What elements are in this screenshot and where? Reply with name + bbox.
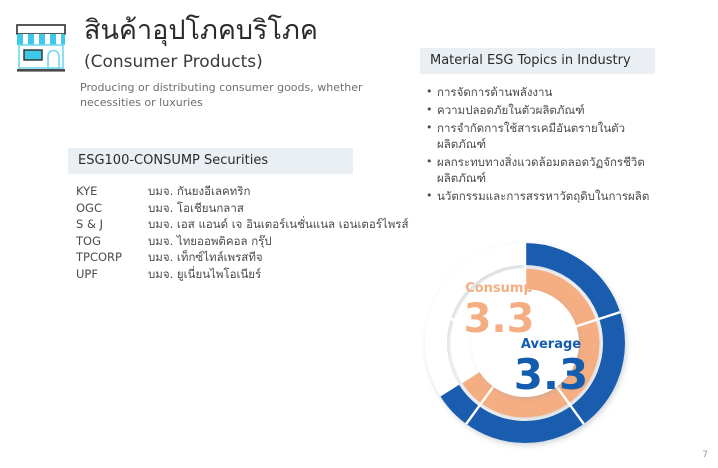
security-symbol: S & J — [76, 216, 148, 233]
topics-list: • การจัดการด้านพลังงาน • ความปลอดภัยในตั… — [420, 84, 655, 204]
security-symbol: OGC — [76, 200, 148, 217]
security-symbol: TOG — [76, 233, 148, 250]
bullet-icon: • — [426, 84, 437, 100]
topic-text: ความปลอดภัยในตัวผลิตภัณฑ์ — [437, 102, 655, 118]
bullet-icon: • — [426, 154, 437, 186]
title-block: สินค้าอุปโภคบริโภค (Consumer Products) — [84, 14, 318, 74]
average-value: 3.3 — [514, 350, 588, 399]
table-row: TOG บมจ. ไทยออพติคอล กรุ๊ป — [76, 233, 353, 250]
list-item: • นวัตกรรมและการสรรหาวัตถุดิบในการผลิต — [426, 188, 655, 204]
table-row: S & J บมจ. เอส แอนด์ เจ อินเตอร์เนชั่นแน… — [76, 216, 353, 233]
bullet-icon: • — [426, 188, 437, 204]
security-name: บมจ. เท็กซ์ไทล์เพรสทีจ — [148, 249, 353, 266]
topics-heading: Material ESG Topics in Industry — [420, 48, 655, 74]
list-item: • ความปลอดภัยในตัวผลิตภัณฑ์ — [426, 102, 655, 118]
table-row: TPCORP บมจ. เท็กซ์ไทล์เพรสทีจ — [76, 249, 353, 266]
material-esg-topics-panel: Material ESG Topics in Industry • การจัด… — [420, 48, 655, 206]
security-symbol: TPCORP — [76, 249, 148, 266]
esg-score-donut-chart: Consump 3.3 Average 3.3 — [418, 238, 648, 453]
securities-heading: ESG100-CONSUMP Securities — [68, 148, 353, 174]
consump-value: 3.3 — [464, 296, 535, 342]
consump-label: Consump — [465, 281, 533, 296]
storefront-icon — [12, 20, 70, 76]
securities-panel: ESG100-CONSUMP Securities KYE บมจ. กันยง… — [68, 148, 353, 282]
list-item: • ผลกระทบทางสิ่งแวดล้อมตลอดวัฏจักรชีวิตผ… — [426, 154, 655, 186]
page-number: 7 — [702, 450, 708, 460]
page-title-english: (Consumer Products) — [84, 50, 318, 74]
list-item: • การจำกัดการใช้สารเคมีอันตรายในตัวผลิตภ… — [426, 120, 655, 152]
securities-list: KYE บมจ. กันยงอีเลคทริก OGC บมจ. โอเชียน… — [68, 183, 353, 282]
table-row: KYE บมจ. กันยงอีเลคทริก — [76, 183, 353, 200]
bullet-icon: • — [426, 120, 437, 152]
topic-text: การจัดการด้านพลังงาน — [437, 84, 655, 100]
page-title-thai: สินค้าอุปโภคบริโภค — [84, 14, 318, 48]
security-name: บมจ. ยูเนี่ยนไพโอเนียร์ — [148, 266, 353, 283]
bullet-icon: • — [426, 102, 437, 118]
security-name: บมจ. โอเชียนกลาส — [148, 200, 353, 217]
security-name: บมจ. กันยงอีเลคทริก — [148, 183, 353, 200]
topic-text: การจำกัดการใช้สารเคมีอันตรายในตัวผลิตภัณ… — [437, 120, 655, 152]
table-row: OGC บมจ. โอเชียนกลาส — [76, 200, 353, 217]
list-item: • การจัดการด้านพลังงาน — [426, 84, 655, 100]
security-symbol: UPF — [76, 266, 148, 283]
security-name: บมจ. ไทยออพติคอล กรุ๊ป — [148, 233, 353, 250]
security-symbol: KYE — [76, 183, 148, 200]
topic-text: ผลกระทบทางสิ่งแวดล้อมตลอดวัฏจักรชีวิตผลิ… — [437, 154, 655, 186]
industry-description: Producing or distributing consumer goods… — [80, 80, 380, 110]
topic-text: นวัตกรรมและการสรรหาวัตถุดิบในการผลิต — [437, 188, 655, 204]
security-name: บมจ. เอส แอนด์ เจ อินเตอร์เนชั่นแนล เอนเ… — [148, 216, 409, 233]
table-row: UPF บมจ. ยูเนี่ยนไพโอเนียร์ — [76, 266, 353, 283]
